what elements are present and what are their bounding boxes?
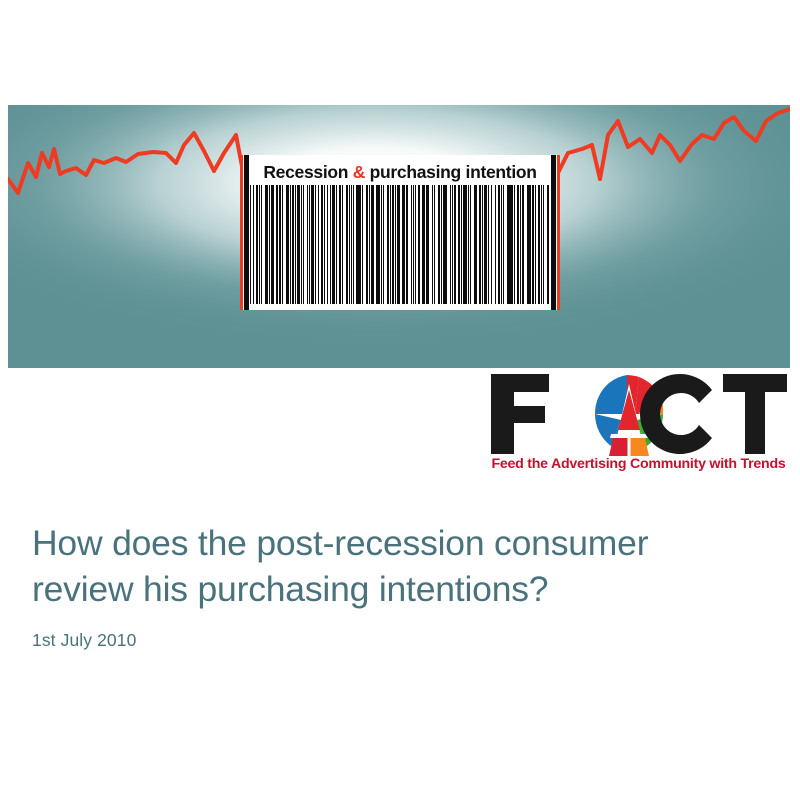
barcode-caption: Recession & purchasing intention [258, 159, 542, 185]
fact-logo: Feed the Advertising Community with Tren… [487, 368, 790, 483]
title-block: How does the post-recession consumer rev… [32, 520, 752, 651]
fact-tagline: Feed the Advertising Community with Tren… [487, 456, 790, 472]
page-title: How does the post-recession consumer rev… [32, 520, 752, 612]
barcode-graphic: Recession & purchasing intention [240, 155, 560, 310]
barcode-caption-prefix: Recession [263, 162, 352, 182]
logo-letter-t [723, 374, 787, 454]
slide-root: Recession & purchasing intention [0, 0, 800, 800]
hero-banner-image: Recession & purchasing intention [8, 105, 790, 368]
barcode-guard-right-red [557, 155, 560, 310]
barcode-guard-right-black [551, 155, 556, 310]
slide-date: 1st July 2010 [32, 630, 752, 651]
barcode-guard-left-red [240, 155, 243, 310]
barcode-guard-left-black [244, 155, 249, 310]
barcode-bars [250, 185, 550, 304]
logo-letter-f [491, 374, 549, 454]
fact-wordmark [487, 368, 790, 458]
barcode-caption-ampersand: & [353, 162, 365, 182]
barcode-caption-suffix: purchasing intention [365, 162, 537, 182]
